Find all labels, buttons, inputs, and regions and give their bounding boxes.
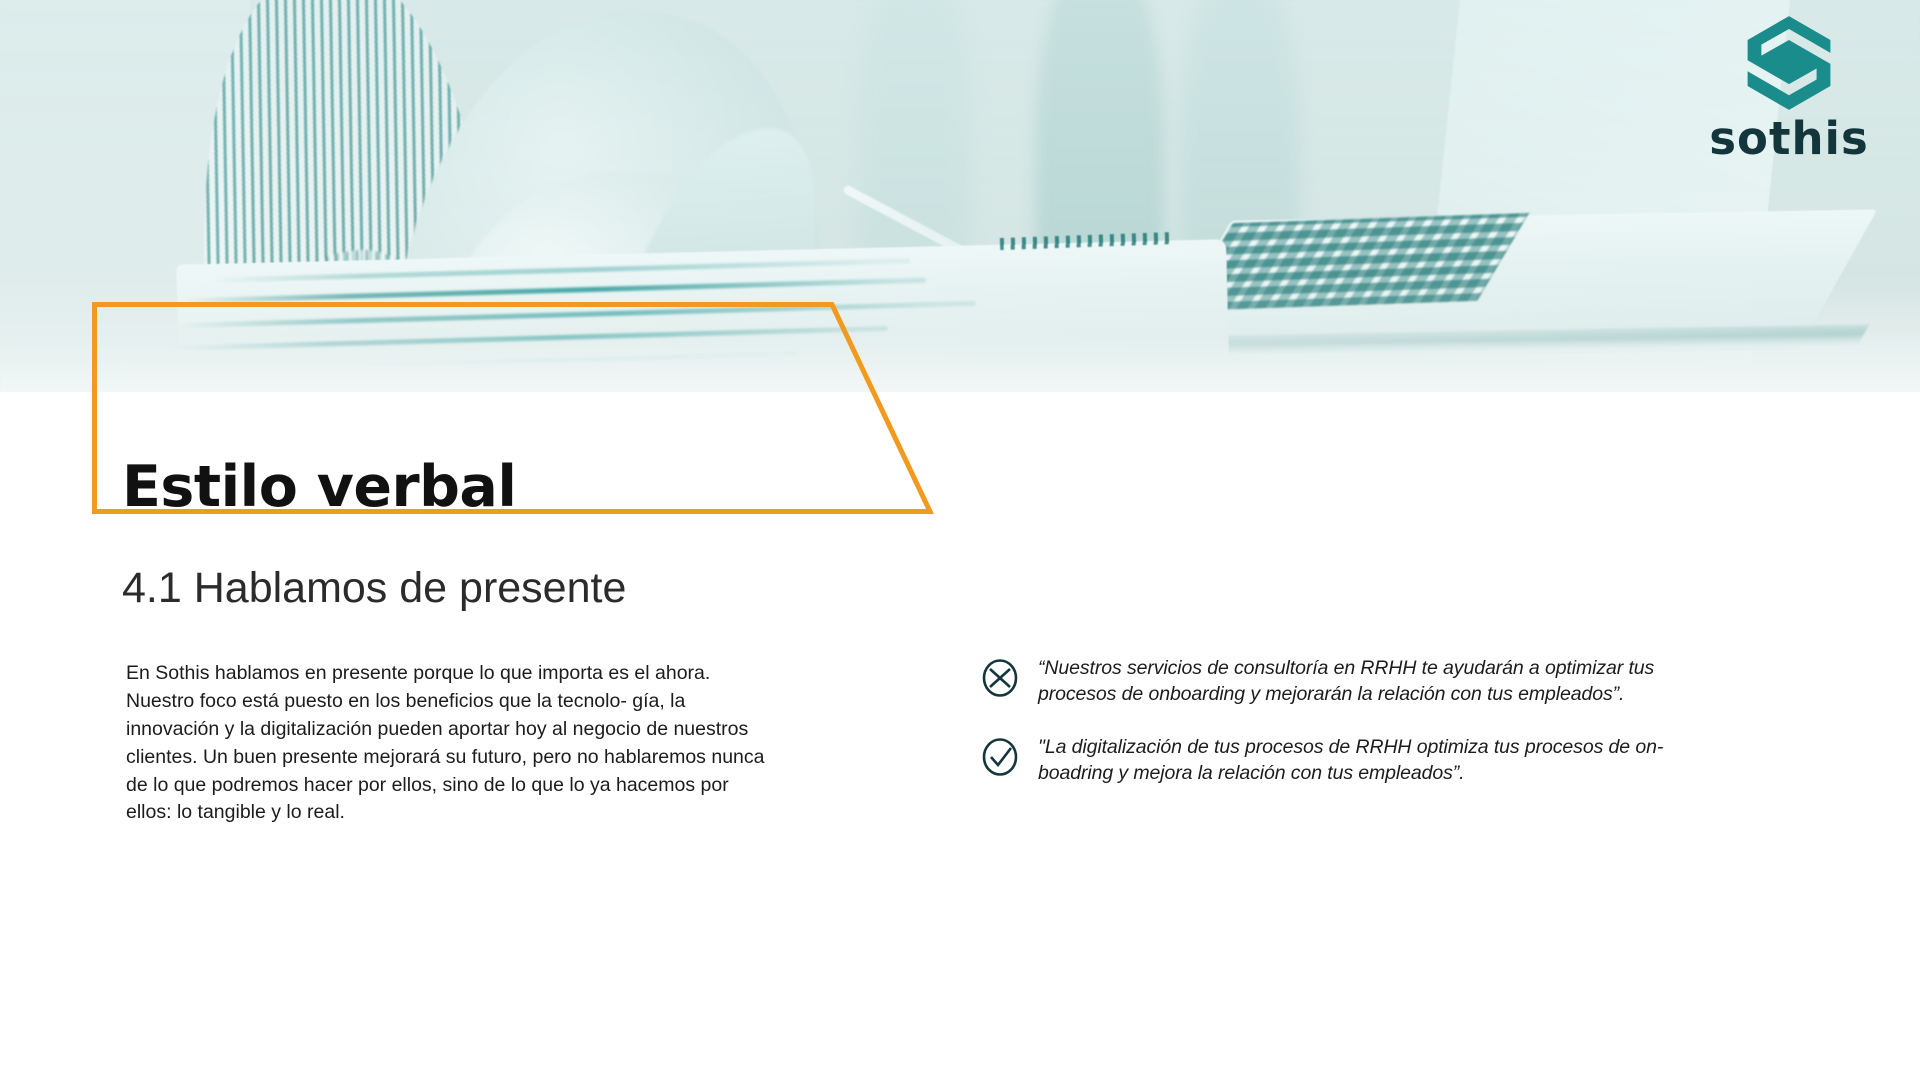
body-line: En Sothis hablamos en presente porque lo… xyxy=(126,662,650,684)
example-correct-text: "La digitalización de tus procesos de RR… xyxy=(1038,734,1663,787)
hexagon-s-logo-icon xyxy=(1743,14,1835,112)
hero-photo xyxy=(0,0,1920,392)
page-title: Estilo verbal xyxy=(122,459,516,516)
example-line: boadring y mejora la relación con tus em… xyxy=(1038,760,1663,786)
examples-list: “Nuestros servicios de consultoría en RR… xyxy=(980,655,1700,812)
page-subtitle: 4.1 Hablamos de presente xyxy=(122,565,626,612)
brand-wordmark: sothis xyxy=(1709,116,1868,161)
brand-logo: sothis xyxy=(1704,14,1874,161)
circle-check-icon xyxy=(980,737,1020,777)
hero-banner xyxy=(0,0,1920,392)
body-paragraph: En Sothis hablamos en presente porque lo… xyxy=(126,660,776,827)
example-line: procesos de onboarding y mejorarán la re… xyxy=(1038,681,1654,707)
example-correct: "La digitalización de tus procesos de RR… xyxy=(980,734,1700,787)
example-line: “Nuestros servicios de consultoría en RR… xyxy=(1038,655,1654,681)
example-line: "La digitalización de tus procesos de RR… xyxy=(1038,734,1663,760)
example-incorrect: “Nuestros servicios de consultoría en RR… xyxy=(980,655,1700,708)
example-incorrect-text: “Nuestros servicios de consultoría en RR… xyxy=(1038,655,1654,708)
circle-x-icon xyxy=(980,658,1020,698)
